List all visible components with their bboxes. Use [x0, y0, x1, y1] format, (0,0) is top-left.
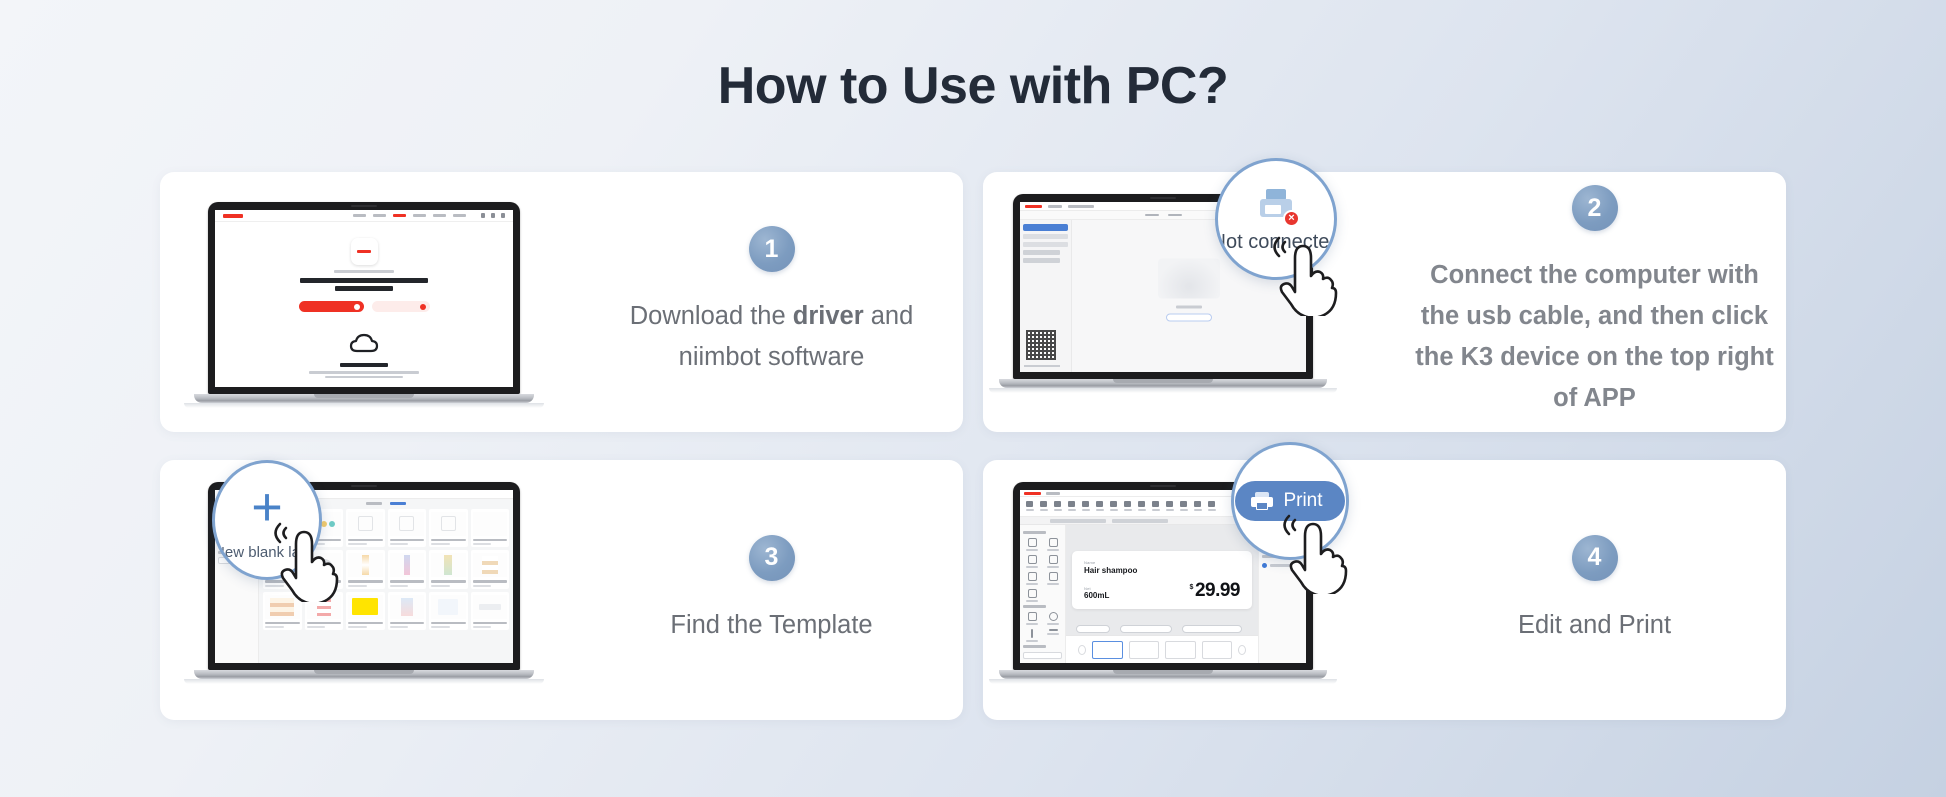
step-caption-2: Connect the computer with the usb cable,…: [1411, 255, 1778, 418]
template-card[interactable]: [388, 509, 427, 548]
page-title: How to Use with PC?: [0, 0, 1946, 115]
sidebar-item[interactable]: [1023, 234, 1068, 239]
hero-headline-line-1: [300, 278, 428, 283]
page-thumb[interactable]: [1202, 641, 1233, 659]
toolbar-button[interactable]: [1082, 501, 1089, 513]
toolbar-button[interactable]: [1054, 501, 1061, 513]
serial-number-tool[interactable]: [1044, 555, 1062, 568]
price-value: 29.99: [1195, 580, 1240, 601]
template-card[interactable]: [429, 509, 468, 548]
step-card-4[interactable]: Name Hair shampoo Net 600mL $29.99: [983, 460, 1786, 720]
table-tool[interactable]: [1044, 572, 1062, 585]
nav-link[interactable]: [433, 214, 446, 217]
label-price-row: Net 600mL $29.99: [1084, 582, 1240, 600]
template-thumb: [473, 512, 508, 536]
step-1-caption-before: Download the: [630, 302, 793, 330]
nav-link[interactable]: [413, 214, 426, 217]
laptop-mockup-1: [208, 202, 520, 408]
template-card[interactable]: [471, 550, 510, 589]
version-note: [334, 270, 394, 273]
template-thumb: [348, 595, 383, 619]
step-card-2[interactable]: × Not connected 2 Connect the computer w…: [983, 172, 1786, 432]
website-hero: [215, 222, 513, 378]
step-4-visual: Name Hair shampoo Net 600mL $29.99: [983, 460, 1403, 720]
page-thumb-selected[interactable]: [1092, 641, 1123, 659]
niimbot-logo: [223, 214, 243, 218]
template-card[interactable]: [429, 550, 468, 589]
materials-section-title: [1023, 645, 1046, 648]
steps-grid: 1 Download the driver and niimbot softwa…: [160, 172, 1786, 720]
template-thumb: [348, 553, 383, 577]
empty-state-button[interactable]: [1166, 313, 1212, 321]
toolbar-button[interactable]: [1026, 501, 1033, 513]
currency-symbol: $: [1190, 584, 1193, 591]
laptop-base-3: [194, 670, 534, 679]
template-card[interactable]: [471, 509, 510, 548]
template-thumb: [431, 595, 466, 619]
tab-recent[interactable]: [366, 502, 382, 505]
nav-link-active[interactable]: [393, 214, 406, 217]
step-3-text: 3 Find the Template: [580, 535, 963, 646]
laptop-shadow-2: [989, 388, 1337, 393]
account-icon[interactable]: [501, 213, 505, 218]
template-thumb: [390, 595, 425, 619]
step-badge-3: 3: [749, 535, 795, 581]
template-card[interactable]: [471, 592, 510, 631]
step-1-visual: [160, 172, 580, 432]
nav-link[interactable]: [373, 214, 386, 217]
align-control[interactable]: [1120, 625, 1172, 633]
step-caption-3: Find the Template: [670, 605, 872, 646]
cloud-storage-section: [215, 332, 513, 378]
qr-code: [1026, 330, 1056, 360]
toolbar-button[interactable]: [1166, 501, 1173, 513]
paper-direction-control[interactable]: [1182, 625, 1242, 633]
website-navbar[interactable]: [215, 210, 513, 222]
editor-tab[interactable]: [1046, 492, 1060, 495]
rectangle-tool[interactable]: [1023, 612, 1041, 625]
shapes-section-title: [1023, 605, 1046, 608]
toolbar-button[interactable]: [1152, 501, 1159, 513]
sidebar-item[interactable]: [1023, 258, 1060, 263]
template-thumb: [431, 512, 466, 536]
prev-page-icon[interactable]: [1078, 645, 1086, 655]
empty-state-text: [1176, 305, 1202, 308]
image-tool[interactable]: [1023, 589, 1041, 602]
app-tile-icon: [351, 238, 378, 265]
cart-icon[interactable]: [491, 213, 495, 218]
text-tool[interactable]: [1023, 555, 1041, 568]
template-card[interactable]: [429, 592, 468, 631]
printer-icon: [1251, 491, 1273, 511]
step-2-visual: × Not connected: [983, 172, 1403, 432]
document-tab-active[interactable]: [1050, 519, 1106, 523]
page-thumb[interactable]: [1129, 641, 1160, 659]
label-net-value: 600mL: [1084, 591, 1109, 600]
template-thumb: [390, 553, 425, 577]
sidebar-item[interactable]: [1023, 250, 1060, 255]
toolbar-button[interactable]: [1194, 501, 1201, 513]
template-card[interactable]: [346, 509, 385, 548]
template-card[interactable]: [346, 592, 385, 631]
template-thumb: [348, 512, 383, 536]
nav-link[interactable]: [453, 214, 466, 217]
step-caption-1: Download the driver and niimbot software: [588, 296, 955, 378]
template-thumb: [473, 553, 508, 577]
element-tools[interactable]: [1023, 538, 1062, 602]
laptop-shadow-4: [989, 679, 1337, 684]
app-sidebar[interactable]: [1020, 220, 1072, 372]
download-app-button[interactable]: [299, 301, 364, 312]
click-hand-cursor: [1269, 230, 1339, 316]
click-hand-cursor: [270, 516, 340, 602]
step-4-text: 4 Edit and Print: [1403, 535, 1786, 646]
laptop-base-1: [194, 394, 534, 403]
template-thumb: [473, 595, 508, 619]
editor-tools-sidebar[interactable]: [1020, 525, 1066, 663]
template-card[interactable]: [388, 592, 427, 631]
toolbar-button[interactable]: [1110, 501, 1117, 513]
toolbar-button[interactable]: [1138, 501, 1145, 513]
app-tab[interactable]: [1048, 205, 1062, 208]
step-badge-1: 1: [749, 226, 795, 272]
label-name-caption: Name: [1084, 560, 1240, 565]
app-tab[interactable]: [1068, 205, 1094, 208]
circle-tool[interactable]: [1044, 612, 1062, 625]
qr-caption: [1024, 365, 1060, 368]
printer-disconnected-icon: ×: [1252, 185, 1300, 229]
step-1-caption-highlight: driver: [793, 302, 864, 330]
template-card[interactable]: [346, 550, 385, 589]
step-3-visual: + New blank label: [160, 460, 580, 720]
vertical-line-tool[interactable]: [1023, 629, 1041, 642]
download-driver-button[interactable]: [372, 301, 430, 312]
laptop-screen-1: [215, 210, 513, 387]
step-badge-4: 4: [1572, 535, 1618, 581]
step-1-text: 1 Download the driver and niimbot softwa…: [580, 226, 963, 378]
menu-item[interactable]: [1168, 214, 1182, 217]
error-badge: ×: [1283, 210, 1300, 227]
search-icon[interactable]: [481, 213, 485, 218]
toolbar-button[interactable]: [1208, 501, 1215, 513]
cloud-storage-desc-2: [325, 376, 403, 379]
nav-link[interactable]: [353, 214, 366, 217]
qrcode-tool[interactable]: [1044, 538, 1062, 551]
template-thumb: [390, 512, 425, 536]
toolbar-button[interactable]: [1096, 501, 1103, 513]
app-tile-logo: [357, 250, 371, 253]
cloud-storage-desc-1: [309, 371, 419, 374]
shape-tools[interactable]: [1023, 612, 1062, 642]
laptop-base-4: [999, 670, 1327, 679]
niimbot-logo: [1025, 205, 1042, 208]
editor-canvas[interactable]: Name Hair shampoo Net 600mL $29.99: [1066, 525, 1258, 663]
page-thumb[interactable]: [1165, 641, 1196, 659]
empty-state-illustration: [1158, 258, 1220, 298]
tools-section-title: [1023, 531, 1046, 534]
template-thumb: [431, 553, 466, 577]
toolbar-button[interactable]: [1124, 501, 1131, 513]
empty-state: [1158, 258, 1220, 321]
canvas-toolbar[interactable]: [1076, 625, 1242, 633]
page-filmstrip[interactable]: [1066, 635, 1258, 663]
date-tool[interactable]: [1023, 572, 1041, 585]
click-hand-cursor: [1279, 508, 1349, 594]
download-buttons[interactable]: [215, 301, 513, 312]
toolbar-button[interactable]: [1040, 501, 1047, 513]
step-2-text: 2 Connect the computer with the usb cabl…: [1403, 185, 1786, 418]
menu-item[interactable]: [1145, 214, 1159, 217]
website-nav-links[interactable]: [353, 213, 505, 218]
toolbar-button[interactable]: [1068, 501, 1075, 513]
next-page-icon[interactable]: [1238, 645, 1246, 655]
label-preview[interactable]: Name Hair shampoo Net 600mL $29.99: [1072, 551, 1252, 609]
step-badge-2: 2: [1572, 185, 1618, 231]
navbar-icons[interactable]: [481, 213, 505, 218]
laptop-shadow-1: [184, 403, 544, 408]
tab-all-templates[interactable]: [390, 502, 406, 505]
hero-headline-line-2: [335, 286, 393, 291]
label-product-name: Hair shampoo: [1084, 566, 1240, 575]
step-caption-4: Edit and Print: [1518, 605, 1671, 646]
sidebar-item[interactable]: [1023, 242, 1068, 247]
step-card-1[interactable]: 1 Download the driver and niimbot softwa…: [160, 172, 963, 432]
horizontal-line-tool[interactable]: [1044, 629, 1062, 642]
laptop-shadow-3: [184, 679, 544, 684]
material-select[interactable]: [1023, 652, 1062, 659]
toolbar-button[interactable]: [1180, 501, 1187, 513]
cloud-storage-title: [340, 363, 388, 367]
label-price: $29.99: [1190, 582, 1240, 600]
cloud-icon: [349, 332, 379, 353]
template-card[interactable]: [388, 550, 427, 589]
zoom-control[interactable]: [1076, 625, 1110, 633]
laptop-base-2: [999, 379, 1327, 388]
barcode-tool[interactable]: [1023, 538, 1041, 551]
document-tab[interactable]: [1112, 519, 1168, 523]
step-card-3[interactable]: + New blank label 3 Find the Template: [160, 460, 963, 720]
sidebar-item-selected[interactable]: [1023, 224, 1068, 231]
niimbot-logo: [1024, 492, 1041, 495]
